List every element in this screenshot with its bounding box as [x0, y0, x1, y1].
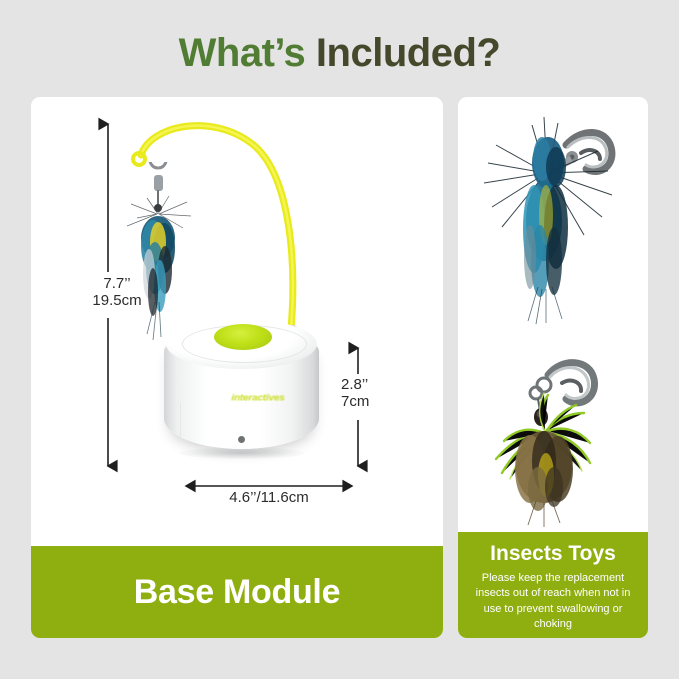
base-module-banner: Base Module [31, 546, 443, 638]
page-title: What’s Included? [0, 31, 679, 75]
dimension-depth-cm: 7cm [341, 393, 369, 410]
dimension-depth-label: 2.8’’ 7cm [341, 376, 401, 411]
charging-port-icon [238, 436, 245, 443]
base-module-panel: interactives Base Module [31, 97, 443, 638]
insects-toys-panel: Insects Toys Please keep the replacement… [458, 97, 648, 638]
base-module-logo: interactives [213, 394, 303, 404]
blue-feather-insect-toy [480, 111, 628, 326]
green-dial-icon[interactable] [214, 324, 272, 350]
page-title-part-2: Included? [316, 31, 500, 75]
dimension-depth-inches: 2.8’’ [341, 376, 368, 393]
dimension-height-inches: 7.7’’ [103, 275, 130, 292]
dimension-height-label: 7.7’’ 19.5cm [86, 275, 148, 310]
insects-toys-banner-subtitle: Please keep the replacement insects out … [458, 571, 648, 632]
green-feather-insect-toy [486, 349, 622, 529]
page-title-part-1: What’s [179, 31, 316, 75]
dimension-height-cm: 19.5cm [92, 292, 141, 309]
base-module-banner-title: Base Module [134, 573, 340, 612]
insects-toys-banner-title: Insects Toys [458, 541, 648, 566]
base-module-seam [180, 403, 181, 439]
base-module-device: interactives [164, 319, 319, 459]
dimension-width-label: 4.6’’/11.6cm [189, 489, 349, 506]
base-module-top-surface [166, 319, 317, 369]
insects-toys-banner: Insects Toys Please keep the replacement… [458, 532, 648, 638]
base-module-product-photo: interactives [31, 97, 443, 546]
wand-feather-insect-icon [125, 162, 195, 342]
